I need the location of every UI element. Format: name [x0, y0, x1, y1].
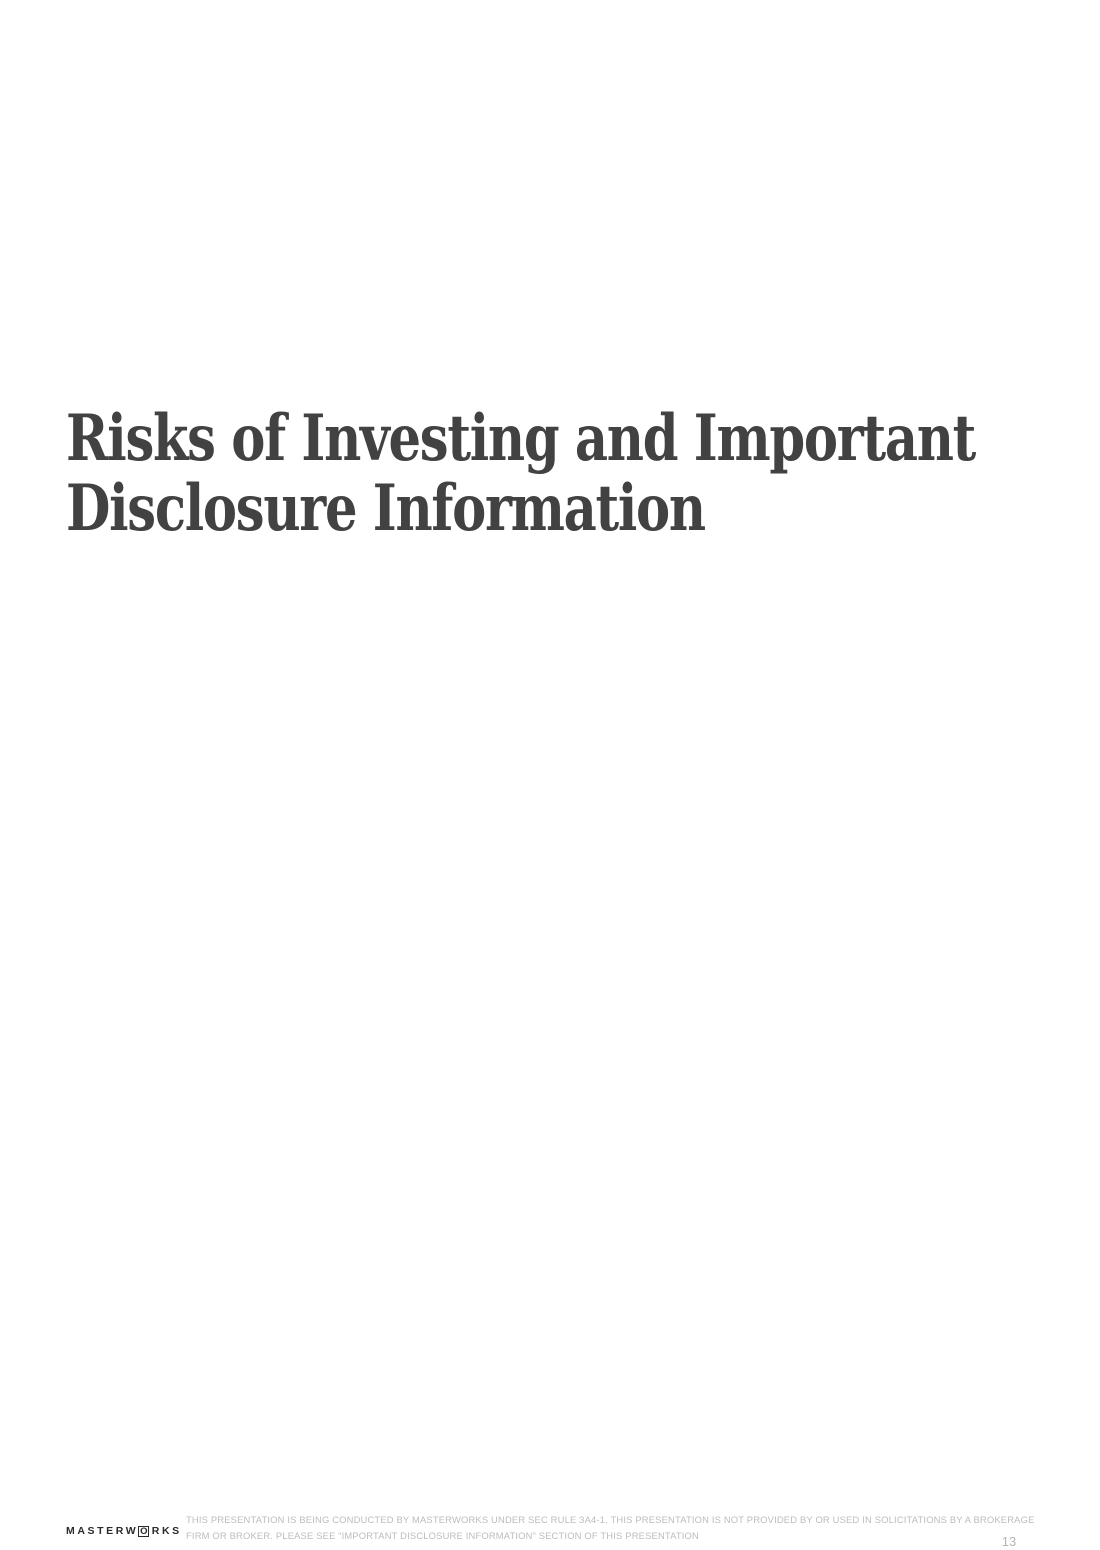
disclaimer-text: THIS PRESENTATION IS BEING CONDUCTED BY … — [186, 1512, 1076, 1543]
logo-text-after: RKS — [152, 1525, 182, 1537]
page-title-line-1: Risks of Investing and Important — [66, 404, 834, 474]
page-number: 13 — [994, 1534, 1024, 1550]
slide-footer: MASTERWORKS THIS PRESENTATION IS BEING C… — [0, 752, 1100, 812]
disclaimer-line-1: THIS PRESENTATION IS BEING CONDUCTED BY … — [186, 1512, 1076, 1528]
page-title-line-2: Disclosure Information — [66, 474, 834, 544]
disclaimer-line-2: FIRM OR BROKER. PLEASE SEE “IMPORTANT DI… — [186, 1528, 1076, 1544]
page-title: Risks of Investing and Important Disclos… — [66, 404, 1026, 544]
masterworks-logo: MASTERWORKS — [66, 1525, 182, 1537]
logo-text-before: MASTERW — [66, 1525, 138, 1537]
slide-canvas: Risks of Investing and Important Disclos… — [0, 0, 1100, 825]
logo-boxed-letter-icon: O — [138, 1526, 149, 1537]
